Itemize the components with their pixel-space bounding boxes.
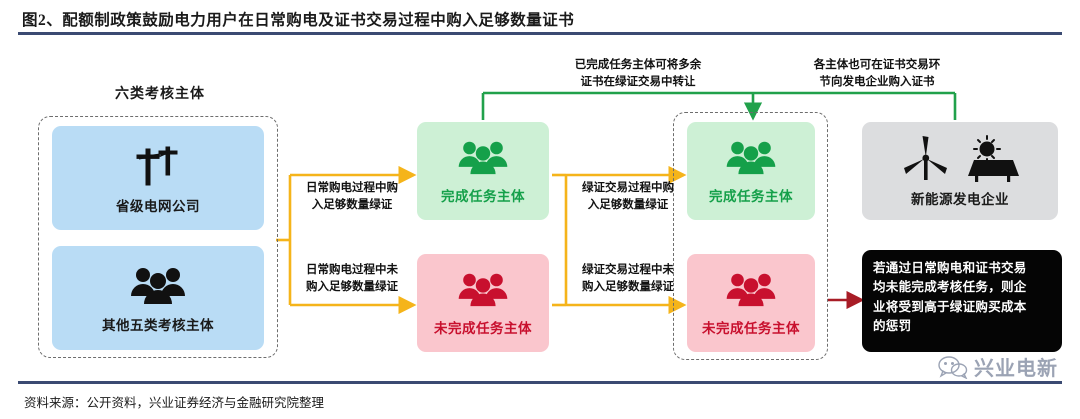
people-group-icon	[724, 269, 778, 309]
line-2: 购入足够数量绿证	[297, 279, 407, 296]
line-1: 日常购电过程中购	[297, 180, 407, 197]
line-2: 购入足够数量绿证	[572, 279, 684, 296]
box-label: 省级电网公司	[116, 195, 200, 215]
page-title: 图2、配额制政策鼓励电力用户在日常购电及证书交易过程中购入足够数量证书	[22, 8, 574, 30]
wechat-icon	[938, 355, 968, 379]
renewable-energy-icons	[895, 134, 1025, 184]
line-2: 节向发电企业购入证书	[772, 74, 982, 91]
box-label: 新能源发电企业	[911, 188, 1009, 208]
box-label: 未完成任务主体	[434, 317, 532, 337]
box-new-energy-generator[interactable]: 新能源发电企业	[862, 122, 1058, 220]
box-middle-completed-entities[interactable]: 完成任务主体	[417, 122, 549, 220]
note-buy-certificate-from-generator: 各主体也可在证书交易环 节向发电企业购入证书	[772, 57, 982, 90]
box-right-uncompleted-entities[interactable]: 未完成任务主体	[687, 254, 815, 352]
source-note: 资料来源：公开资料，兴业证券经济与金融研究院整理	[24, 392, 324, 411]
line-2: 证书在绿证交易中转让	[528, 74, 748, 91]
watermark: 兴业电新	[938, 352, 1058, 381]
line-1: 已完成任务主体可将多余	[528, 57, 748, 74]
box-middle-uncompleted-entities[interactable]: 未完成任务主体	[417, 254, 549, 352]
box-label: 未完成任务主体	[702, 317, 800, 337]
line-1: 各主体也可在证书交易环	[772, 57, 982, 74]
box-label: 其他五类考核主体	[102, 314, 214, 334]
connector-label-daily-purchase-insufficient: 日常购电过程中未 购入足够数量绿证	[297, 262, 407, 295]
line-4: 的惩罚	[873, 317, 1051, 336]
left-group-caption: 六类考核主体	[60, 83, 260, 103]
wind-turbine-icon	[904, 136, 947, 180]
connector-label-daily-purchase-sufficient: 日常购电过程中购 入足够数量绿证	[297, 180, 407, 213]
people-group-icon	[128, 263, 188, 307]
solar-panel-icon	[968, 136, 1019, 182]
line-1: 若通过日常购电和证书交易	[873, 259, 1051, 278]
watermark-label: 兴业电新	[974, 352, 1058, 381]
divider-bottom	[18, 381, 1062, 384]
box-label: 完成任务主体	[441, 185, 525, 205]
connector-label-green-cert-trade-sufficient: 绿证交易过程中购 入足够数量绿证	[572, 180, 684, 213]
box-label: 完成任务主体	[709, 185, 793, 205]
line-1: 日常购电过程中未	[297, 262, 407, 279]
line-2: 入足够数量绿证	[297, 197, 407, 214]
line-3: 业将受到高于绿证购买成本	[873, 298, 1051, 317]
people-group-icon	[456, 269, 510, 309]
connector-label-green-cert-trade-insufficient: 绿证交易过程中未 购入足够数量绿证	[572, 262, 684, 295]
people-group-icon	[724, 137, 778, 177]
power-pole-icon	[130, 141, 186, 187]
figure-canvas: 图2、配额制政策鼓励电力用户在日常购电及证书交易过程中购入足够数量证书 资料来源…	[0, 0, 1080, 419]
box-provincial-grid-company[interactable]: 省级电网公司	[52, 126, 264, 230]
note-surplus-certificate-transfer: 已完成任务主体可将多余 证书在绿证交易中转让	[528, 57, 748, 90]
line-2: 均未能完成考核任务，则企	[873, 278, 1051, 297]
people-group-icon	[456, 137, 510, 177]
line-1: 绿证交易过程中未	[572, 262, 684, 279]
divider-top	[18, 32, 1062, 35]
penalty-callout: 若通过日常购电和证书交易 均未能完成考核任务，则企 业将受到高于绿证购买成本 的…	[862, 250, 1062, 352]
line-2: 入足够数量绿证	[572, 197, 684, 214]
box-right-completed-entities[interactable]: 完成任务主体	[687, 122, 815, 220]
line-1: 绿证交易过程中购	[572, 180, 684, 197]
box-other-five-entities[interactable]: 其他五类考核主体	[52, 246, 264, 350]
